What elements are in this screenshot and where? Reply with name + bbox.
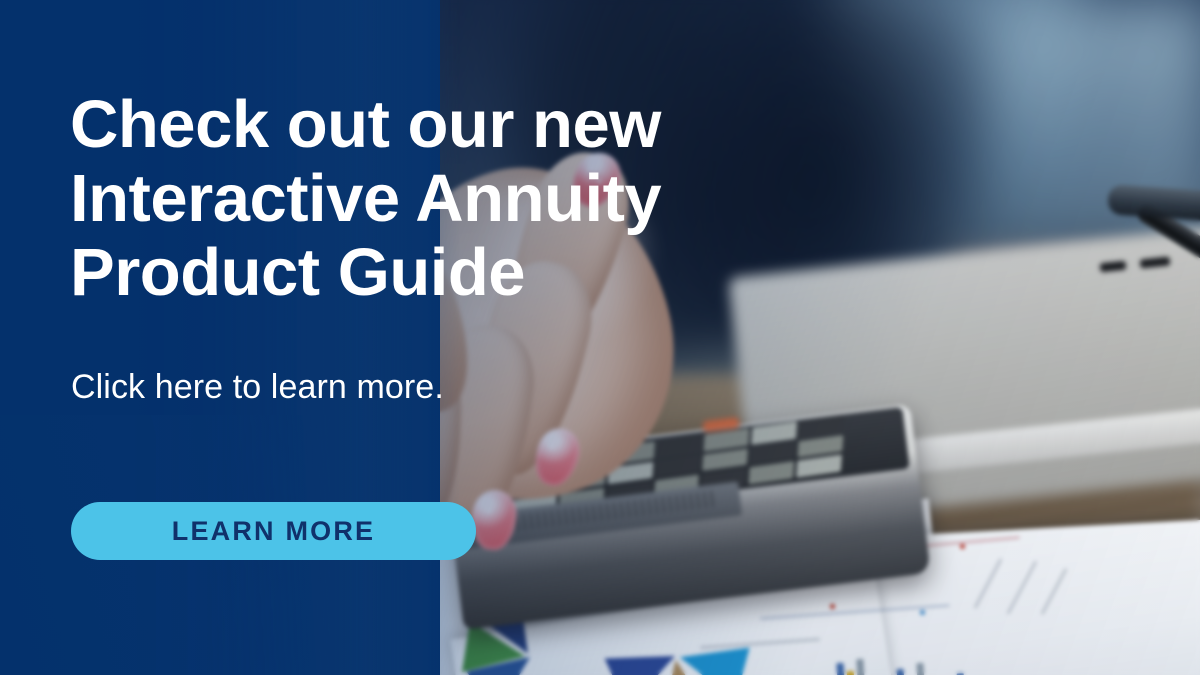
subheadline: Click here to learn more. — [71, 366, 444, 408]
promo-banner: Check out our new Interactive Annuity Pr… — [0, 0, 1200, 675]
chart-point — [830, 604, 835, 609]
chart-point — [920, 610, 925, 615]
page-title: Check out our new Interactive Annuity Pr… — [70, 88, 670, 310]
learn-more-button[interactable]: LEARN MORE — [71, 502, 476, 560]
chart-point — [960, 544, 965, 549]
banner-content: Check out our new Interactive Annuity Pr… — [70, 0, 690, 675]
